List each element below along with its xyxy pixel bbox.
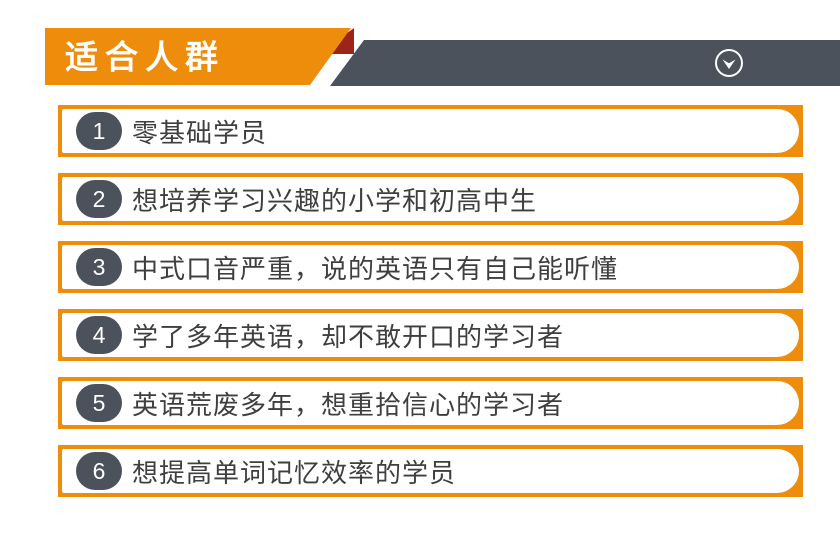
list-item-number-badge: 4 bbox=[76, 316, 122, 354]
audience-list: 1 零基础学员 2 想培养学习兴趣的小学和初高中生 3 中式口音严重，说的英语只… bbox=[0, 105, 840, 513]
list-item-label: 英语荒废多年，想重拾信心的学习者 bbox=[132, 377, 564, 429]
list-item[interactable]: 1 零基础学员 bbox=[58, 105, 803, 157]
list-item-label: 想培养学习兴趣的小学和初高中生 bbox=[132, 173, 537, 225]
list-item[interactable]: 6 想提高单词记忆效率的学员 bbox=[58, 445, 803, 497]
list-item-number-badge: 6 bbox=[76, 452, 122, 490]
chevron-down-circle-icon[interactable] bbox=[714, 48, 744, 78]
page-header: 适合人群 bbox=[0, 0, 840, 100]
header-dark-bar bbox=[330, 40, 840, 86]
page-title: 适合人群 bbox=[65, 40, 225, 73]
list-item-number-badge: 2 bbox=[76, 180, 122, 218]
list-item-label: 零基础学员 bbox=[132, 105, 267, 157]
list-item-number-badge: 1 bbox=[76, 112, 122, 150]
list-item[interactable]: 2 想培养学习兴趣的小学和初高中生 bbox=[58, 173, 803, 225]
list-item-number-badge: 5 bbox=[76, 384, 122, 422]
list-item-label: 中式口音严重，说的英语只有自己能听懂 bbox=[132, 241, 618, 293]
list-item[interactable]: 4 学了多年英语，却不敢开口的学习者 bbox=[58, 309, 803, 361]
list-item-label: 想提高单词记忆效率的学员 bbox=[132, 445, 456, 497]
list-item-number-badge: 3 bbox=[76, 248, 122, 286]
header-orange-banner: 适合人群 bbox=[45, 28, 351, 85]
list-item[interactable]: 5 英语荒废多年，想重拾信心的学习者 bbox=[58, 377, 803, 429]
list-item-label: 学了多年英语，却不敢开口的学习者 bbox=[132, 309, 564, 361]
list-item[interactable]: 3 中式口音严重，说的英语只有自己能听懂 bbox=[58, 241, 803, 293]
